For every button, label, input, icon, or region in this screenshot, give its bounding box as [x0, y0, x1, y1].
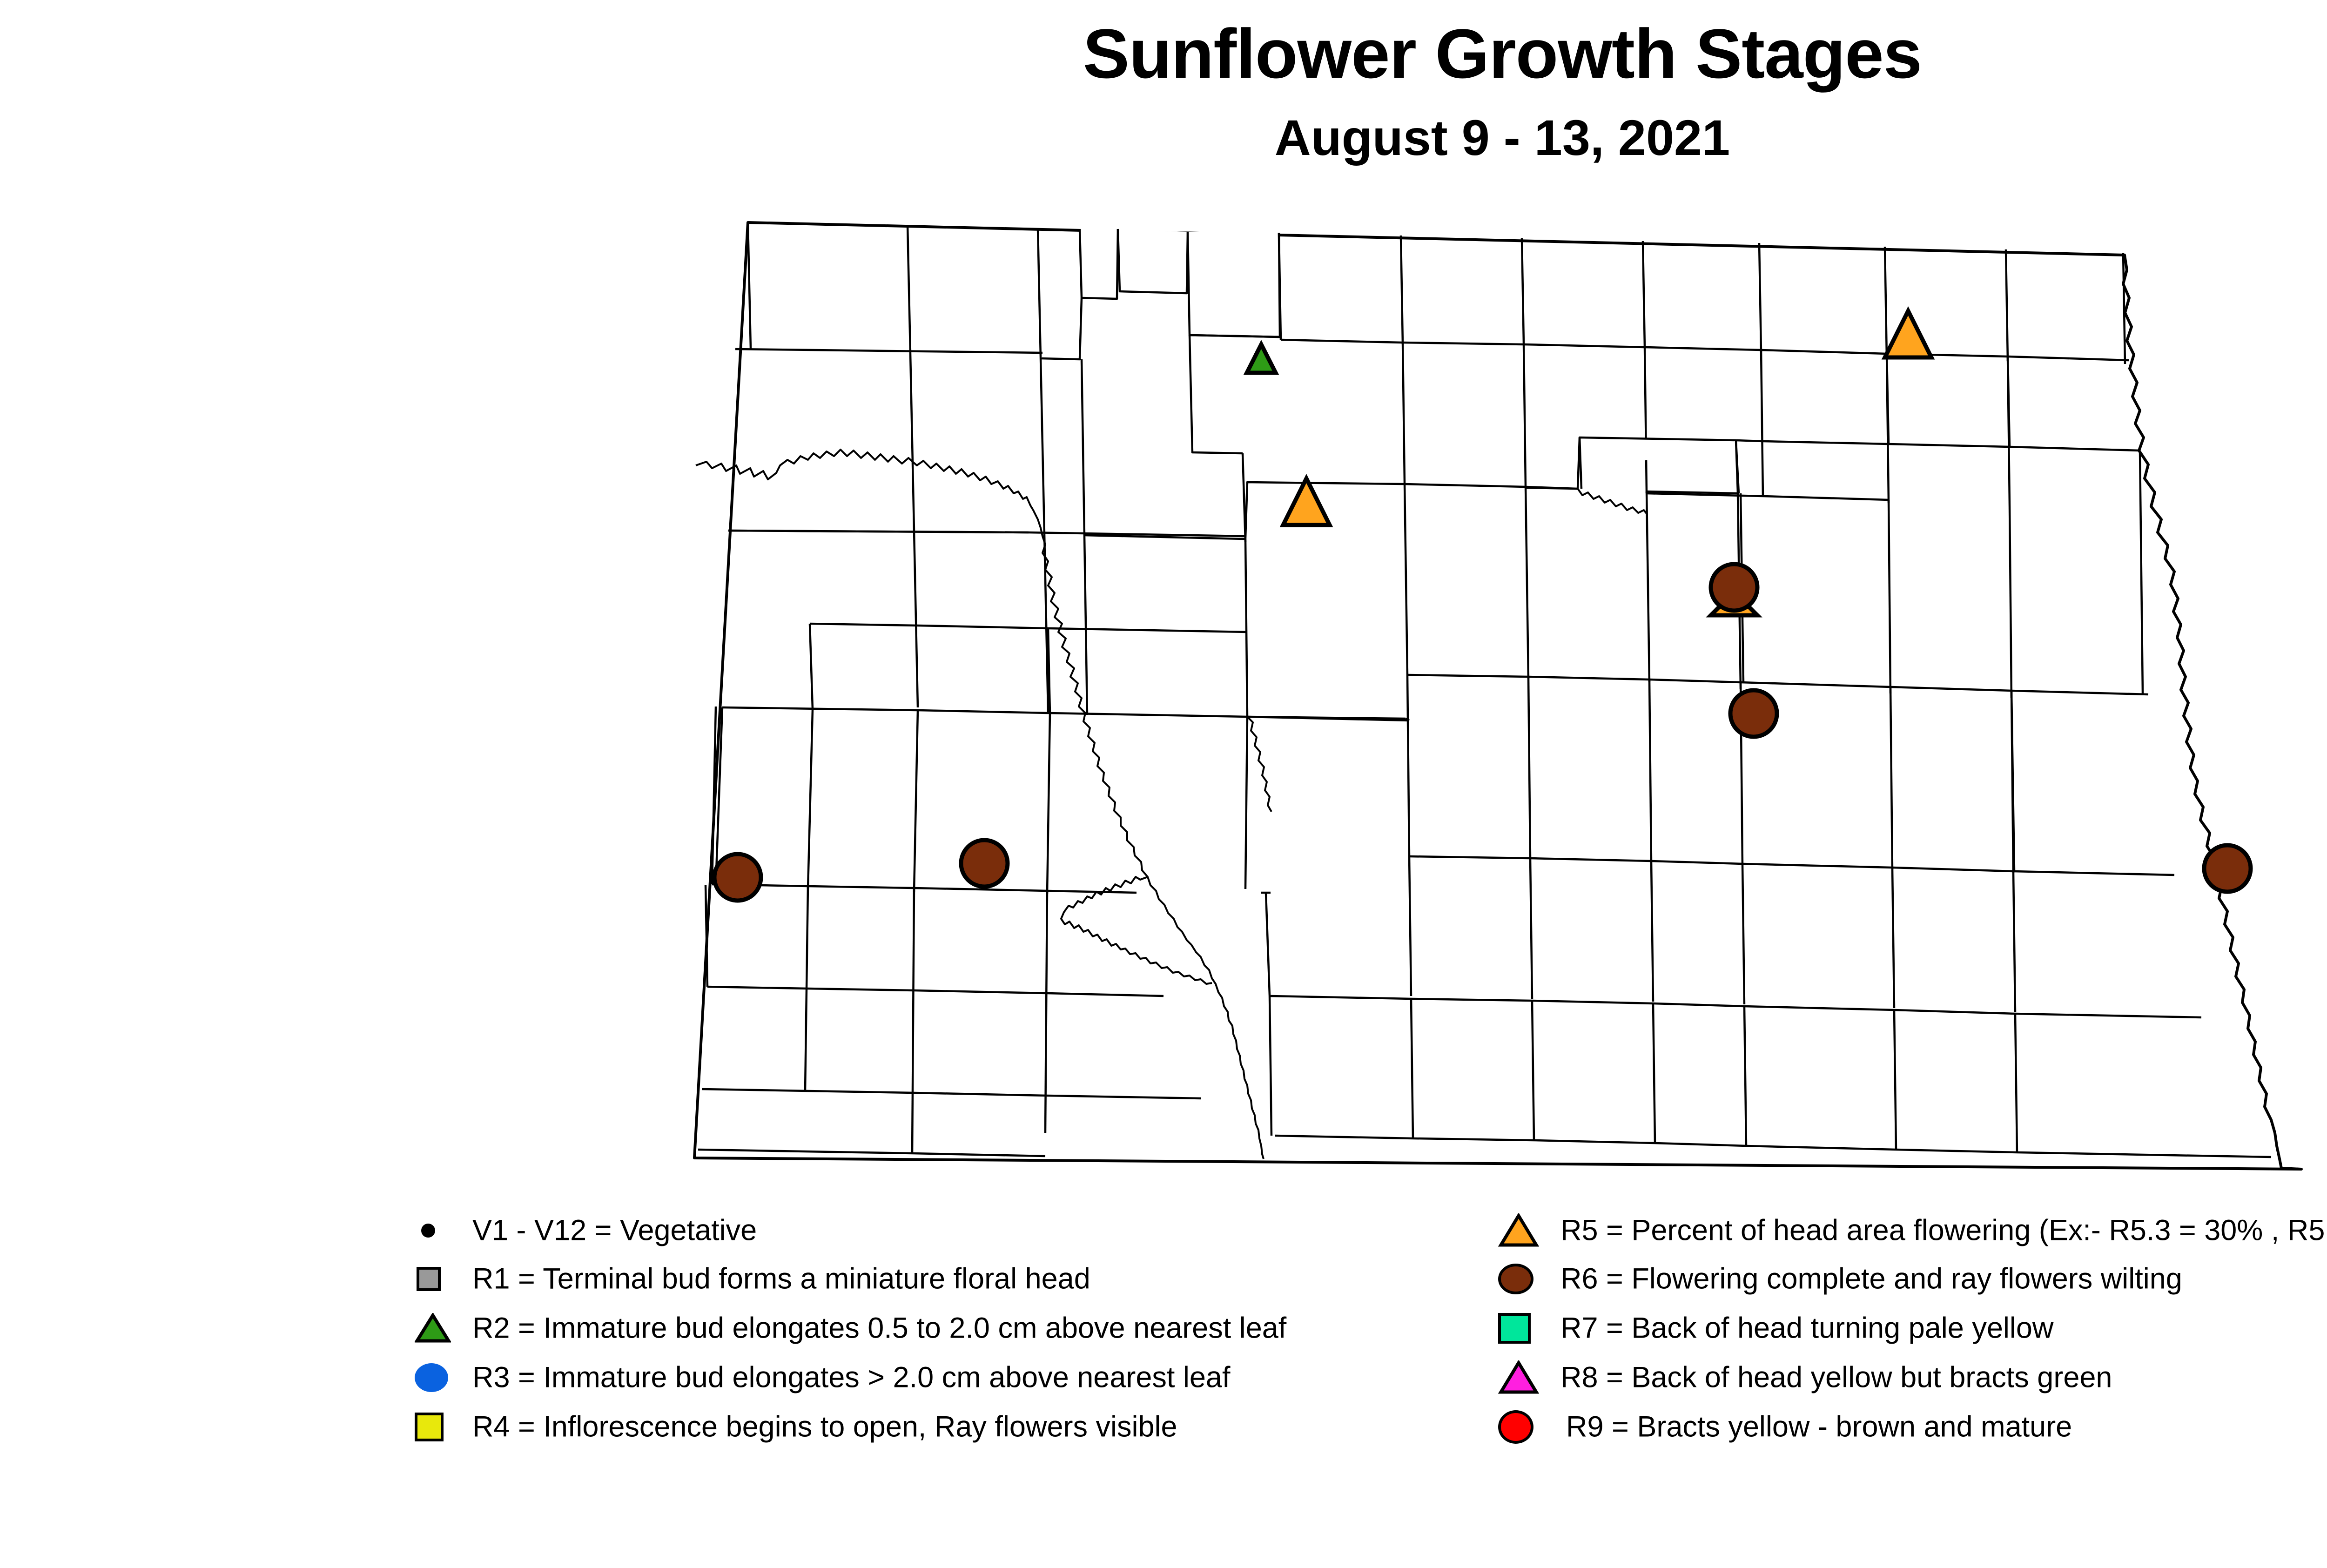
page-root: Sunflower Growth Stages August 9 - 13, 2…: [0, 0, 2327, 1568]
title-block: Sunflower Growth Stages August 9 - 13, 2…: [0, 19, 2327, 163]
circle-marker: [1498, 1410, 1533, 1444]
legend-label: R2 = Immature bud elongates 0.5 to 2.0 c…: [472, 1314, 1286, 1343]
legend-label: R6 = Flowering complete and ray flowers …: [1560, 1265, 2182, 1294]
square-marker: [1498, 1313, 1531, 1344]
triangle-marker: [415, 1313, 451, 1344]
county-line: [1080, 229, 1118, 299]
circle-marker: [1498, 1264, 1533, 1294]
legend-label: R8 = Back of head yellow but bracts gree…: [1560, 1363, 2112, 1393]
legend-label: R7 = Back of head turning pale yellow: [1560, 1314, 2053, 1343]
legend-label: R1 = Terminal bud forms a miniature flor…: [472, 1265, 1090, 1294]
county-line: [1188, 232, 1280, 337]
legend-label: V1 - V12 = Vegetative: [472, 1216, 757, 1245]
legend-label: R3 = Immature bud elongates > 2.0 cm abo…: [472, 1363, 1230, 1393]
triangle-marker: [1498, 1213, 1539, 1248]
dot-marker: [421, 1224, 435, 1238]
marker-r6-circle[interactable]: [1730, 690, 1777, 737]
legend: V1 - V12 = Vegetative R1 = Terminal bud …: [0, 1208, 2327, 1506]
square-marker: [415, 1413, 444, 1441]
marker-r6-circle[interactable]: [961, 840, 1008, 887]
page-subtitle: August 9 - 13, 2021: [0, 113, 2327, 163]
circle-marker: [415, 1363, 448, 1392]
county-line: [1736, 440, 1763, 441]
triangle-marker: [1498, 1360, 1539, 1395]
marker-r6-circle[interactable]: [714, 854, 761, 901]
square-marker: [417, 1267, 441, 1291]
marker-r6-circle[interactable]: [2204, 845, 2251, 892]
marker-r6-circle[interactable]: [1711, 564, 1757, 611]
legend-label: R4 = Inflorescence begins to open, Ray f…: [472, 1413, 1177, 1442]
map-svg: [670, 205, 2327, 1191]
county-boundaries: [694, 222, 2301, 1169]
north-dakota-county-map: [670, 205, 2327, 1191]
state-outline: [694, 222, 2301, 1169]
legend-label: R5 = Percent of head area flowering (Ex:…: [1560, 1216, 2327, 1245]
page-title: Sunflower Growth Stages: [0, 19, 2327, 88]
legend-label: R9 = Bracts yellow - brown and mature: [1566, 1413, 2072, 1442]
county-line: [1118, 229, 1188, 293]
